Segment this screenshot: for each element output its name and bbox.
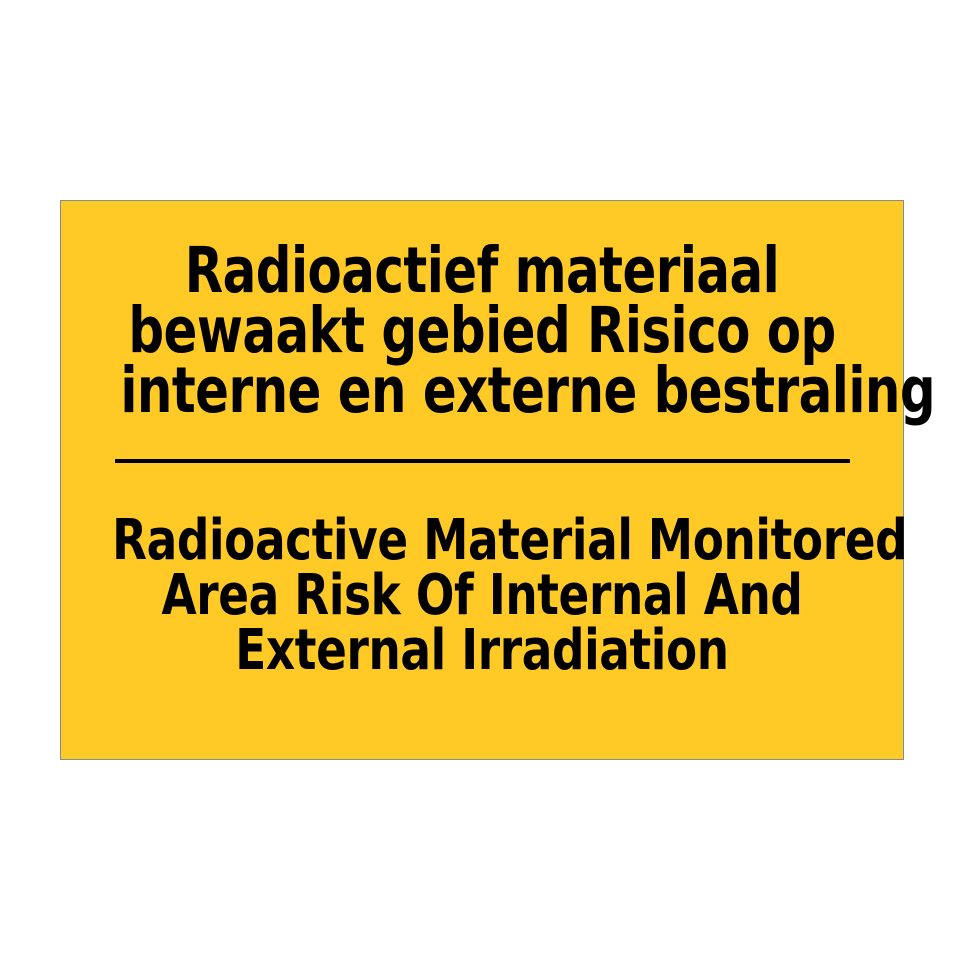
primary-text-line-2: bewaakt gebied Risico op	[120, 301, 843, 361]
horizontal-divider-rule	[115, 459, 850, 463]
secondary-text-line-1: Radioactive Material Monitored	[112, 513, 852, 568]
primary-text-dutch: Radioactief materiaal bewaakt gebied Ris…	[112, 241, 853, 421]
primary-text-line-3: interne en externe bestraling	[120, 361, 843, 421]
primary-text-line-1: Radioactief materiaal	[120, 241, 843, 301]
secondary-text-line-3: External Irradiation	[112, 623, 852, 678]
secondary-text-english: Radioactive Material Monitored Area Risk…	[103, 513, 861, 678]
divider-wrapper	[61, 459, 903, 463]
page-canvas: Radioactief materiaal bewaakt gebied Ris…	[0, 0, 964, 964]
secondary-text-line-2: Area Risk Of Internal And	[112, 568, 852, 623]
warning-sign-panel: Radioactief materiaal bewaakt gebied Ris…	[60, 200, 904, 760]
